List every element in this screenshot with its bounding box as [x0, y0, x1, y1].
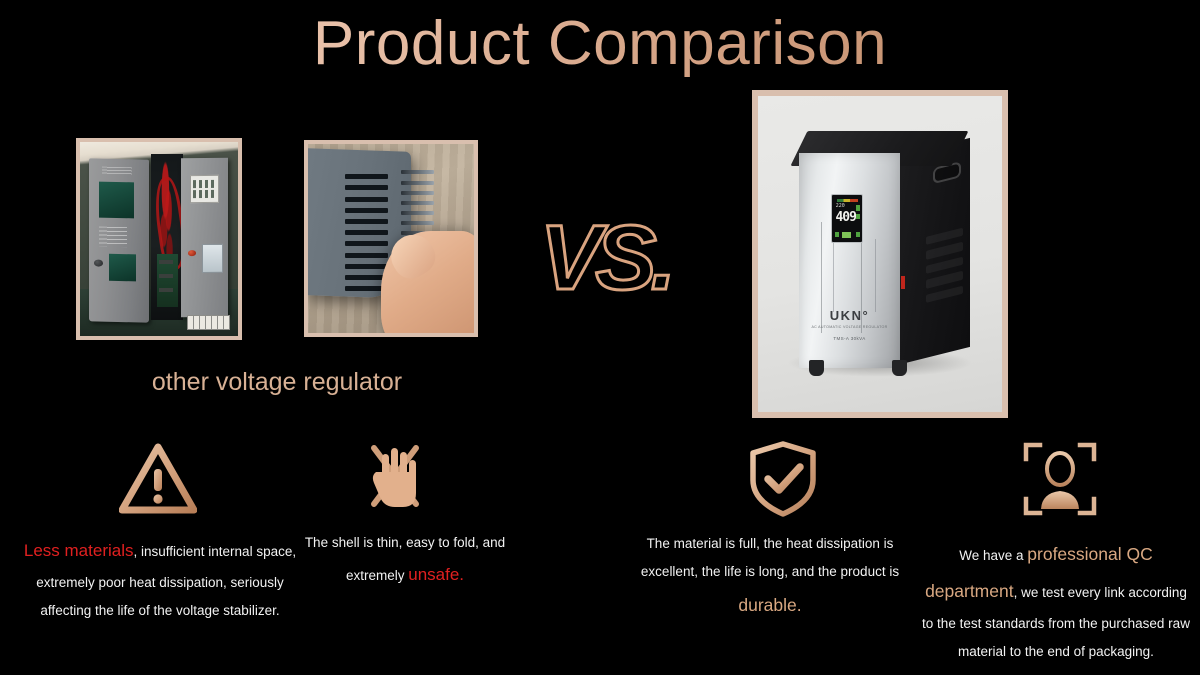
- photo3-caster-right: [892, 360, 907, 376]
- photo3-scene: 220 409 UKN° AC AUTOMATIC VOLTAGE REGULA…: [758, 96, 1002, 412]
- page-title: Product Comparison: [0, 8, 1200, 79]
- photo-ukn-voltage-stabilizer: 220 409 UKN° AC AUTOMATIC VOLTAGE REGULA…: [752, 90, 1008, 418]
- photo1-breaker: [202, 243, 223, 272]
- photo3-caster-front: [809, 360, 824, 376]
- feature-text-less-materials: Less materials, insufficient internal sp…: [22, 533, 298, 625]
- photo-open-regulator-cabinets: [76, 138, 242, 340]
- photo1-left-text-label: [99, 227, 128, 247]
- photo3-brand-subtitle: AC AUTOMATIC VOLTAGE REGULATOR: [799, 325, 899, 329]
- photo3-display-value: 409: [835, 210, 855, 225]
- feature-text-qc-department: We have a professional QC department, we…: [922, 536, 1190, 666]
- photo1-internal-cavity: [151, 154, 183, 321]
- slide-canvas: Product Comparison: [0, 0, 1200, 675]
- photo1-left-lower-screen: [110, 254, 136, 282]
- photo2-vent-slots-left: [345, 174, 388, 291]
- feature-lead-qc-department: We have a: [959, 548, 1027, 563]
- person-scan-icon: [1015, 437, 1105, 521]
- photo1-digital-meter: [190, 175, 219, 202]
- photo1-left-panel: [89, 159, 149, 323]
- feature-lead-thin-shell: The shell is thin, easy to fold, and ext…: [305, 535, 505, 583]
- vs-badge: VS.: [505, 198, 705, 318]
- photo3-cabinet-front: 220 409 UKN° AC AUTOMATIC VOLTAGE REGULA…: [799, 153, 899, 368]
- photo1-left-screen: [100, 182, 135, 219]
- photo1-left-top-label: [103, 167, 133, 176]
- feature-text-full-material: The material is full, the heat dissipati…: [632, 530, 908, 623]
- feature-text-thin-shell: The shell is thin, easy to fold, and ext…: [288, 529, 522, 593]
- photo1-terminal-block: [187, 315, 230, 331]
- left-side-caption: other voltage regulator: [76, 368, 478, 397]
- photo-hand-bending-shell: [304, 140, 478, 337]
- photo2-scene: [308, 144, 474, 333]
- photo3-red-switch: [901, 276, 905, 289]
- photo3-cabinet-side: [897, 137, 970, 364]
- photo1-scene: [80, 142, 238, 336]
- photo1-left-knob: [94, 260, 103, 267]
- photo3-brand-logo: UKN°: [799, 308, 899, 323]
- photo3-display-small: 220: [836, 203, 845, 209]
- fragile-hand-icon: [350, 437, 440, 521]
- feature-highlight-full-material: durable.: [738, 595, 801, 615]
- photo1-circuit-board: [157, 254, 178, 307]
- photo1-right-panel: [181, 157, 228, 317]
- photo3-model-number: TMS-A 30kVA: [799, 336, 899, 341]
- shield-check-icon: [738, 437, 828, 521]
- feature-lead-full-material: The material is full, the heat dissipati…: [641, 536, 899, 579]
- warning-triangle-icon: [113, 437, 203, 521]
- feature-highlight-less-materials: Less materials: [24, 541, 134, 560]
- photo1-red-button: [188, 250, 196, 256]
- feature-highlight-thin-shell: unsafe.: [408, 565, 464, 584]
- photo3-lcd-display: 220 409: [831, 194, 863, 243]
